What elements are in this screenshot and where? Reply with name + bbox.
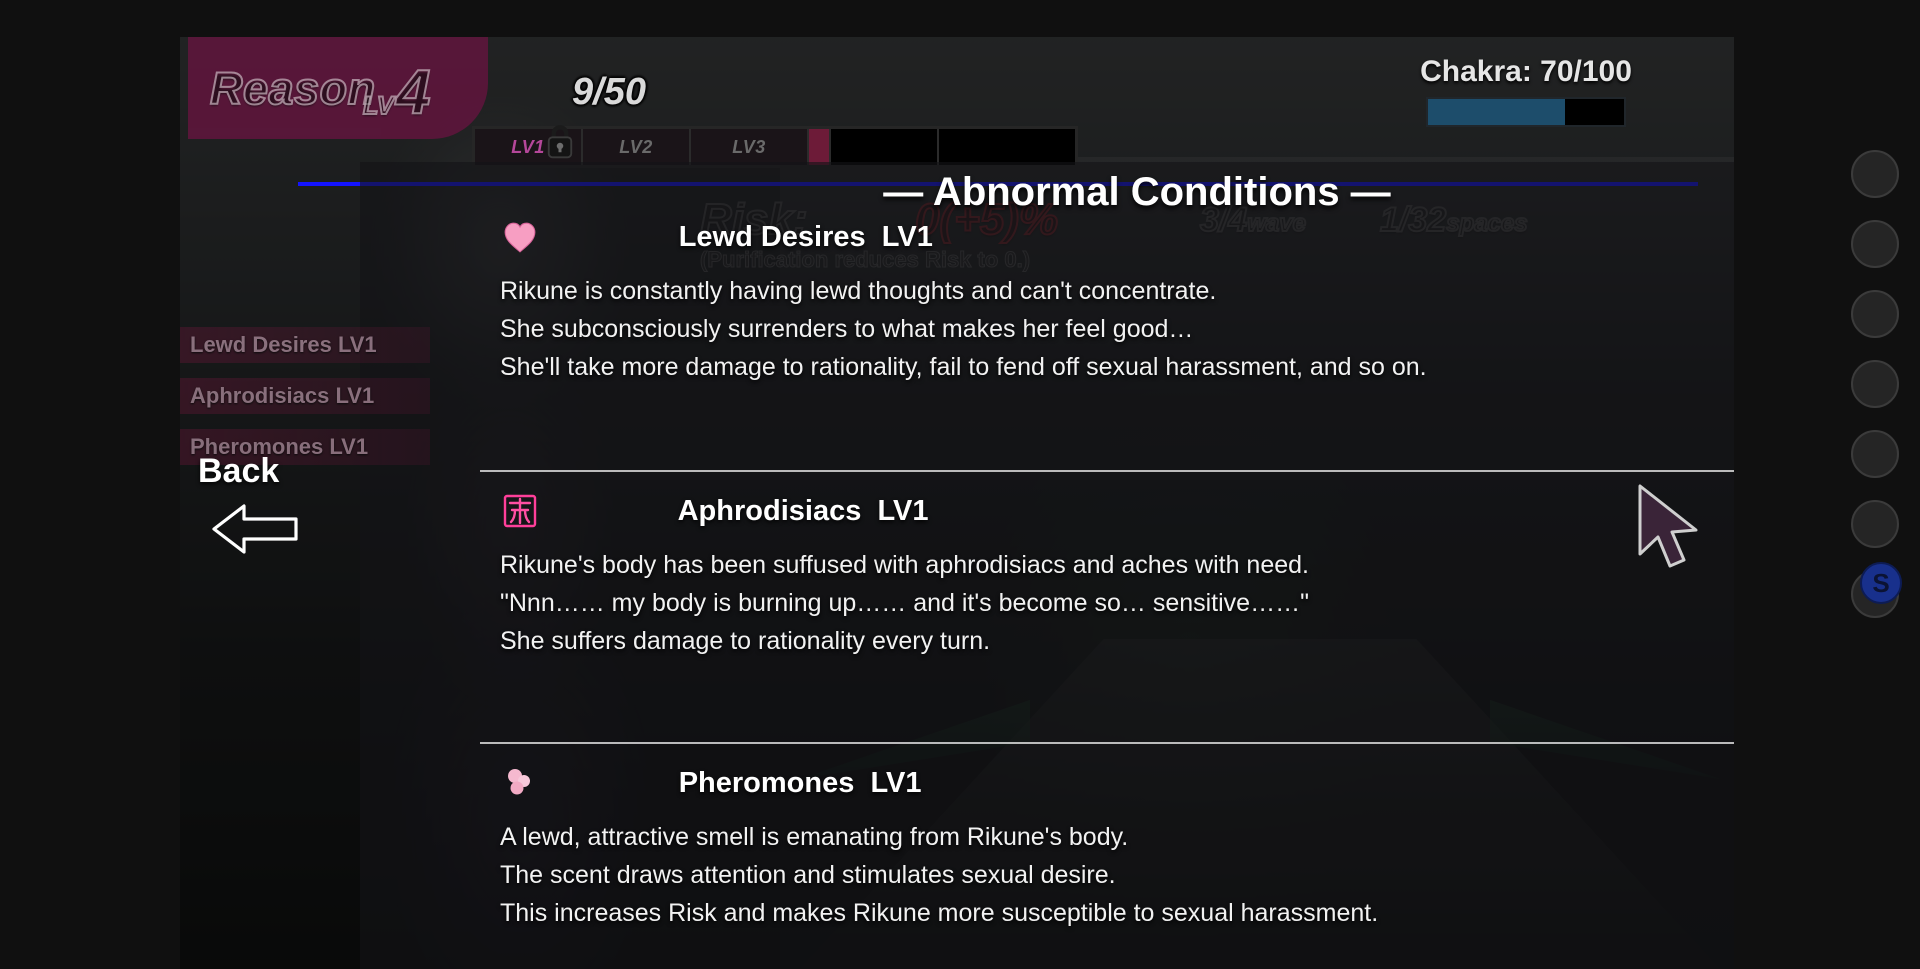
panel-title: — Abnormal Conditions —: [360, 170, 1734, 215]
condition-line: She subconsciously surrenders to what ma…: [500, 310, 1734, 348]
level-segment-1-label: LV1: [511, 137, 545, 158]
condition-description-aphrodisiacs: Rikune's body has been suffused with aph…: [500, 546, 1734, 660]
level-segment-5: [831, 129, 939, 165]
slot-button-3[interactable]: [1851, 290, 1899, 338]
level-segment-6: [939, 129, 1078, 165]
condition-entry-lewd-desires[interactable]: Lewd Desires LV1 Rikune is constantly ha…: [500, 214, 1734, 386]
condition-description-pheromones: A lewd, attractive smell is emanating fr…: [500, 818, 1734, 932]
slot-button-5[interactable]: [1851, 430, 1899, 478]
slot-button-6[interactable]: [1851, 500, 1899, 548]
slot-button-2[interactable]: [1851, 220, 1899, 268]
level-segment-3: LV3: [691, 129, 809, 165]
condition-line: The scent draws attention and stimulates…: [500, 856, 1734, 894]
condition-line: This increases Risk and makes Rikune mor…: [500, 894, 1734, 932]
condition-line: A lewd, attractive smell is emanating fr…: [500, 818, 1734, 856]
condition-description-lewd-desires: Rikune is constantly having lewd thought…: [500, 272, 1734, 386]
level-segment-3-label: LV3: [732, 137, 766, 158]
left-sidebar: Lewd Desires LV1 Aphrodisiacs LV1 Pherom…: [180, 37, 480, 969]
chakra-bar-fill: [1428, 99, 1565, 125]
level-segment-2: LV2: [583, 129, 691, 165]
condition-level-text: LV1: [882, 221, 933, 253]
condition-title-text: Lewd Desires: [679, 221, 866, 253]
condition-line: Rikune's body has been suffused with aph…: [500, 546, 1734, 584]
heart-icon: [500, 217, 540, 257]
slot-button-4[interactable]: [1851, 360, 1899, 408]
chakra-bar-track: [1426, 97, 1626, 127]
slot-button-1[interactable]: [1851, 150, 1899, 198]
level-segment-4: [809, 129, 831, 165]
left-arrow-icon: [210, 500, 300, 558]
condition-line: She suffers damage to rationality every …: [500, 622, 1734, 660]
game-viewport: Reason LV 4 9/50 LV1 LV2 LV3: [180, 37, 1734, 969]
chakra-label: Chakra: 70/100: [1376, 55, 1676, 89]
condition-line: Rikune is constantly having lewd thought…: [500, 272, 1734, 310]
save-badge-label: S: [1872, 568, 1889, 599]
status-chip-lewd-desires[interactable]: Lewd Desires LV1: [180, 327, 430, 363]
save-badge[interactable]: S: [1860, 562, 1902, 604]
medicine-kanji-icon: [500, 491, 540, 531]
experience-counter: 9/50: [572, 71, 646, 114]
condition-entry-pheromones[interactable]: Pheromones LV1 A lewd, attractive smell …: [500, 760, 1734, 932]
condition-title-text: Aphrodisiacs: [678, 495, 862, 527]
back-button-label: Back: [198, 452, 279, 491]
status-chip-aphrodisiacs[interactable]: Aphrodisiacs LV1: [180, 378, 430, 414]
lock-icon: [545, 122, 575, 160]
condition-entry-aphrodisiacs[interactable]: Aphrodisiacs LV1 Rikune's body has been …: [500, 488, 1734, 660]
condition-line: "Nnn…… my body is burning up…… and it's …: [500, 584, 1734, 622]
screen-root: Reason LV 4 9/50 LV1 LV2 LV3: [0, 0, 1920, 969]
scent-cloud-icon: [500, 763, 540, 803]
abnormal-conditions-panel: — Abnormal Conditions — Lewd Desires LV1…: [360, 162, 1734, 969]
chakra-meter: Chakra: 70/100: [1376, 55, 1676, 127]
level-segment-2-label: LV2: [619, 137, 653, 158]
condition-level-text: LV1: [877, 495, 928, 527]
condition-level-text: LV1: [870, 767, 921, 799]
condition-line: She'll take more damage to rationality, …: [500, 348, 1734, 386]
status-chip-label: Aphrodisiacs LV1: [190, 383, 374, 409]
condition-title-text: Pheromones: [679, 767, 855, 799]
back-button[interactable]: Back: [180, 452, 470, 582]
mouse-cursor: [1632, 480, 1704, 576]
status-chip-label: Lewd Desires LV1: [190, 332, 377, 358]
